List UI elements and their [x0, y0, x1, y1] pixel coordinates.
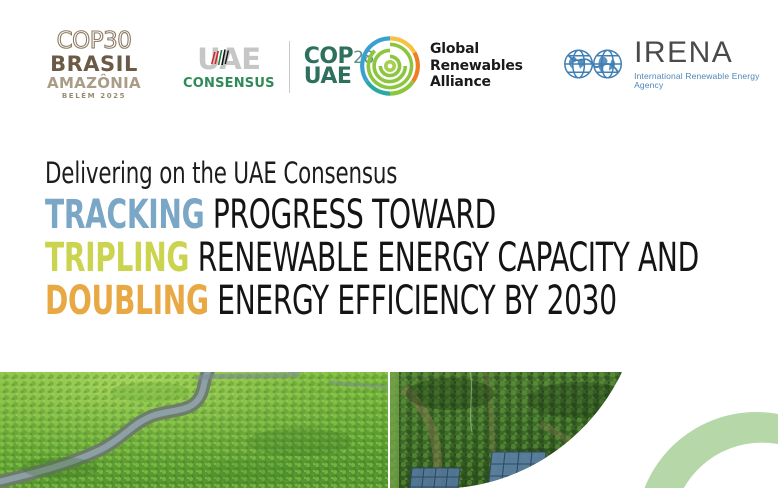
gra-circular-maze-icon [360, 36, 420, 96]
uae-wordmark: UAE [183, 45, 275, 74]
cop30-belem-text: BELÉM 2025 [45, 93, 143, 100]
rainforest-photo-graphic [0, 372, 388, 488]
logo-bar: COP30 BRASIL AMAZÔNIA BELÉM 2025 UAE CON… [0, 0, 778, 128]
headline-highlight-tripling: TRIPLING [45, 235, 189, 281]
media-strip [0, 372, 778, 488]
gra-wordmark: Global Renewables Alliance [430, 41, 523, 91]
headline-rest-1: PROGRESS TOWARD [204, 192, 496, 238]
headline-highlight-tracking: TRACKING [45, 192, 204, 238]
uae-consensus-logo: UAE CONSENSUS [183, 45, 289, 90]
cop30-wordmark: COP30 [45, 30, 143, 53]
amazon-rainforest-river-aerial-photo [0, 372, 388, 488]
irena-logo: IRENA International Renewable Energy Age… [560, 38, 778, 89]
uae-consensus-cop28-logo-group: UAE CONSENSUS COP28 UAE [183, 38, 374, 96]
cop30-brasil-text: BRASIL [45, 54, 143, 75]
irena-subtitle: International Renewable Energy Agency [634, 72, 778, 89]
headline-line-2: TRIPLING RENEWABLE ENERGY CAPACITY AND [45, 237, 607, 280]
cop30-brasil-logo: COP30 BRASIL AMAZÔNIA BELÉM 2025 [45, 30, 143, 100]
solar-panels-in-forest-aerial-photo [390, 372, 778, 488]
irena-globes-infinity-icon [560, 45, 626, 83]
cop30-amazonia-text: AMAZÔNIA [45, 76, 143, 91]
headline-line-1: TRACKING PROGRESS TOWARD [45, 194, 607, 237]
solar-forest-photo-graphic [390, 372, 778, 488]
uae-consensus-subtitle: CONSENSUS [183, 77, 275, 90]
irena-acronym: IRENA [634, 38, 778, 68]
irena-wordmark: IRENA International Renewable Energy Age… [634, 38, 778, 89]
gra-line-2: Renewables [430, 58, 523, 75]
headline-line-3: DOUBLING ENERGY EFFICIENCY BY 2030 [45, 280, 607, 323]
headline-rest-3: ENERGY EFFICIENCY BY 2030 [209, 278, 617, 324]
green-arc-decoration [640, 412, 778, 488]
global-renewables-alliance-logo: Global Renewables Alliance [360, 36, 523, 96]
gra-line-1: Global [430, 41, 523, 58]
headline-highlight-doubling: DOUBLING [45, 278, 209, 324]
title-block: Delivering on the UAE Consensus TRACKING… [45, 158, 765, 323]
kicker-text: Delivering on the UAE Consensus [45, 158, 635, 190]
gra-line-3: Alliance [430, 74, 523, 91]
headline-rest-2: RENEWABLE ENERGY CAPACITY AND [189, 235, 699, 281]
